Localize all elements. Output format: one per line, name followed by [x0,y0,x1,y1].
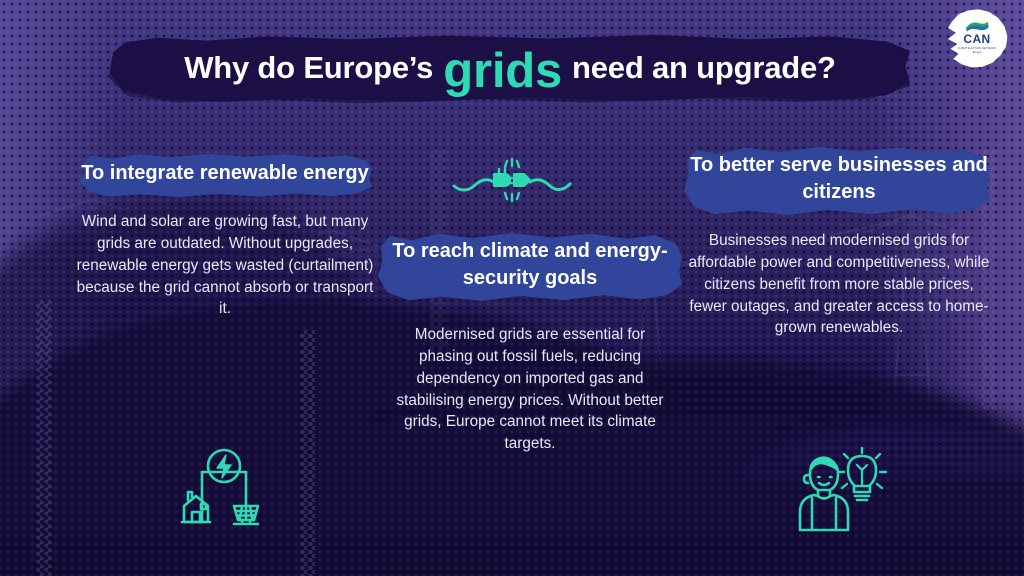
column-3-heading-wrap: To better serve businesses and citizens [674,142,1004,216]
logo-region: Europe [973,51,981,54]
title-text-after: need an upgrade? [572,50,836,86]
logo-subtitle: CLIMATE ACTION NETWORK [958,47,997,50]
column-3-body: Businesses need modernised grids for aff… [674,230,1004,339]
column-1-body: Wind and solar are growing fast, but man… [60,211,390,320]
infographic-slide: Why do Europe’s grids need an upgrade? C… [0,0,1024,576]
title-text-accent: grids [443,47,562,96]
column-2-body: Modernised grids are essential for phasi… [372,324,688,455]
column-2-heading: To reach climate and energy-security goa… [372,228,688,302]
title-text-before: Why do Europe’s [184,50,433,86]
column-1-heading-wrap: To integrate renewable energy [60,150,390,197]
person-lightbulb-idea-icon [792,444,888,536]
column-better-serve-businesses-citizens: To better serve businesses and citizens … [674,142,1004,339]
column-2-heading-wrap: To reach climate and energy-security goa… [372,228,688,302]
column-climate-energy-security-goals: To reach climate and energy-security goa… [372,228,688,455]
column-integrate-renewable-energy: To integrate renewable energy Wind and s… [60,150,390,320]
page-title: Why do Europe’s grids need an upgrade? [110,32,910,104]
column-1-heading: To integrate renewable energy [60,150,390,197]
logo-swoosh-icon [964,19,990,32]
house-solar-panel-energy-icon [176,444,272,536]
column-3-heading: To better serve businesses and citizens [674,142,1004,216]
logo-wordmark: CAN [963,33,990,45]
plug-connection-icon [452,152,572,208]
can-europe-logo[interactable]: CAN CLIMATE ACTION NETWORK Europe [944,8,1010,70]
